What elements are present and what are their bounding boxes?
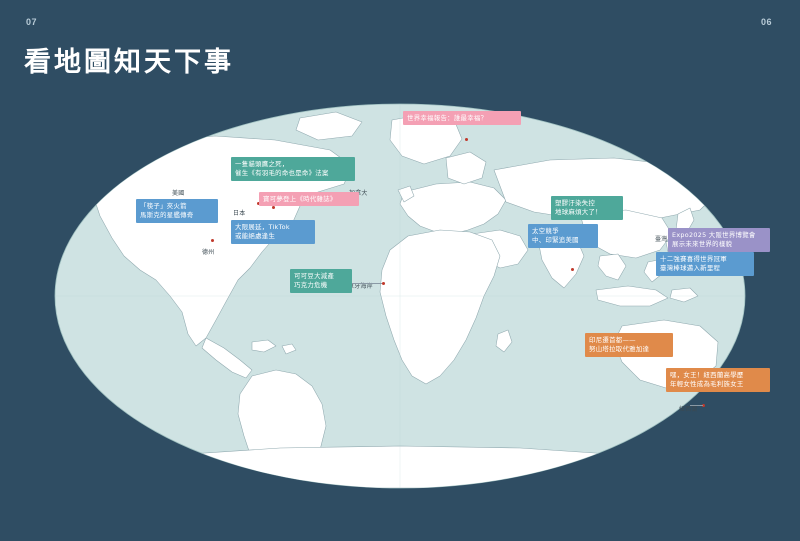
world-map-svg (0, 84, 800, 541)
callout-indonesia-capital[interactable]: 印尼遷首都—— 努山塔拉取代雅加達 (585, 333, 673, 357)
callout-cocoa-crisis[interactable]: 可可豆大減產 巧克力危機 (290, 269, 352, 293)
callout-maori-queen[interactable]: 嘿，女王！紐西蘭高學歷 年輕女性成為毛利族女王 (666, 368, 770, 392)
callout-premier12-baseball[interactable]: 十二強賽喜得世界冠軍 臺灣棒球邁入新里程 (656, 252, 754, 276)
callout-owl-bill[interactable]: 一隻貓頭鷹之死， 催生《有羽毛的命也是命》法案 (231, 157, 355, 181)
callout-space-race[interactable]: 太空競爭 中、印緊追美國 (528, 224, 598, 248)
leader-nz (690, 405, 703, 406)
marker-ivory (382, 282, 385, 285)
callout-pokemon-time[interactable]: 寶可夢登上《時代雜誌》 (259, 192, 359, 206)
marker-nordic (465, 138, 468, 141)
place-japan: 日本 (233, 208, 245, 217)
callout-plastic-pollution[interactable]: 塑膠汙染失控 地球麻煩大了！ (551, 196, 623, 220)
world-map: 美國 德州 加拿大 日本 象牙海岸 臺灣 紐西蘭 (0, 84, 800, 541)
page-title: 看地圖知天下事 (24, 40, 234, 79)
callout-expo-2025-osaka[interactable]: Expo2025 大阪世界博覽會 展示未來世界的樣貌 (668, 228, 770, 252)
page-number-right: 06 (761, 17, 772, 27)
marker-texas (211, 239, 214, 242)
page-number-left: 07 (26, 17, 37, 27)
place-usa: 美國 (172, 188, 184, 197)
leader-ivory (352, 283, 382, 284)
place-taiwan: 臺灣 (655, 234, 667, 243)
callout-starship-chopsticks[interactable]: 「筷子」夾火箭 馬斯克的星艦傳奇 (136, 199, 218, 223)
callout-tiktok-extension[interactable]: 大限展延，TikTok 或能絕處逢生 (231, 220, 315, 244)
slide-page: 07 06 看地圖知天下事 (0, 0, 800, 541)
place-texas: 德州 (202, 247, 214, 256)
callout-world-happiness[interactable]: 世界幸福報告：誰最幸福？ (403, 111, 521, 125)
marker-india (571, 268, 574, 271)
marker-japan (272, 206, 275, 209)
